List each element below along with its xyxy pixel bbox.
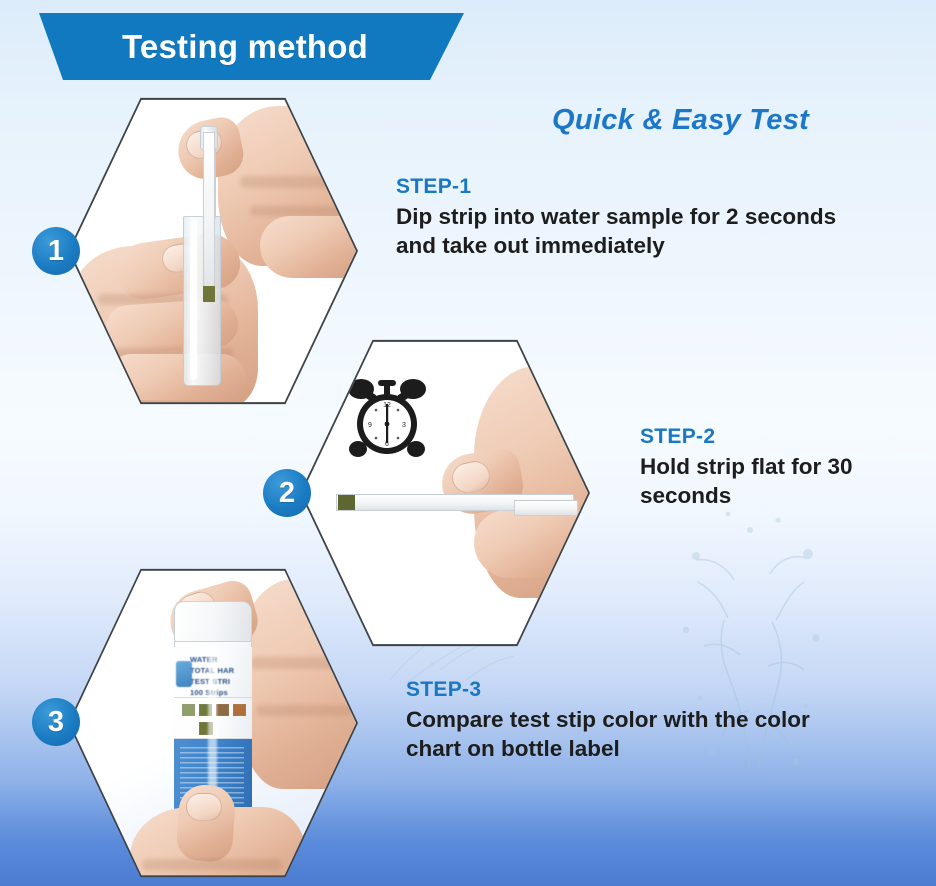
test-strip-in-vial [203,132,215,300]
test-strip-horizontal-tail [514,500,578,516]
svg-text:3: 3 [402,422,406,429]
test-strip-pad [338,495,355,510]
bottle-label-line-3: TEST STRI [190,677,250,688]
bottom-hand-crease [142,859,282,870]
bottom-hand-nail [186,793,222,821]
step-2-text: STEP-2 Hold strip flat for 30 seconds [640,425,900,511]
color-chart-swatch [233,704,246,716]
header-banner: Testing method [22,13,464,80]
color-chart-swatch [216,704,229,716]
tagline: Quick & Easy Test [552,104,809,137]
test-strip-pad [203,286,215,302]
step-1-number-badge: 1 [32,227,80,275]
lower-hand-ring [110,354,246,400]
bottle-label-line-1: WATER [190,655,250,666]
bottle-cap [174,601,252,643]
vial-highlight [190,220,197,380]
upper-hand-shadow [240,176,348,188]
bottle-label-text: WATER TOTAL HAR TEST STRI 100 Strips [190,655,250,699]
bottle-label-logo [176,661,192,687]
hexagon-inner: WATER TOTAL HAR TEST STRI 100 Strips [70,569,356,877]
step-1-number: 1 [48,235,64,268]
top-hand-crease-2 [256,705,352,716]
step-3-number: 3 [48,706,64,739]
step-1-body: Dip strip into water sample for 2 second… [396,203,876,261]
upper-hand-finger [260,216,356,278]
alarm-clock-icon: 12 3 6 9 [344,374,430,462]
step-3-body: Compare test stip color with the color c… [406,706,836,764]
step-3-title: STEP-3 [406,678,836,702]
step-3-number-badge: 3 [32,698,80,746]
step-2-title: STEP-2 [640,425,900,449]
upper-hand-crease [250,206,350,216]
top-hand-crease [250,657,350,669]
step-3-image-hexagon: WATER TOTAL HAR TEST STRI 100 Strips [68,567,358,879]
bottle-label-line-2: TOTAL HAR [190,666,250,677]
step-2-body: Hold strip flat for 30 seconds [640,453,900,511]
step-1-text: STEP-1 Dip strip into water sample for 2… [396,175,876,261]
step-3-text: STEP-3 Compare test stip color with the … [406,678,836,764]
step-3-photo: WATER TOTAL HAR TEST STRI 100 Strips [70,569,356,877]
step-1-title: STEP-1 [396,175,876,199]
page-title: Testing method [22,13,464,80]
infographic-root: Testing method Quick & Easy Test [0,0,936,886]
holding-hand-finger [474,510,588,578]
color-chart-swatch [182,704,195,716]
svg-text:9: 9 [368,422,372,429]
step-2-number: 2 [279,477,295,510]
step-2-number-badge: 2 [263,469,311,517]
vial-tube [183,216,221,386]
